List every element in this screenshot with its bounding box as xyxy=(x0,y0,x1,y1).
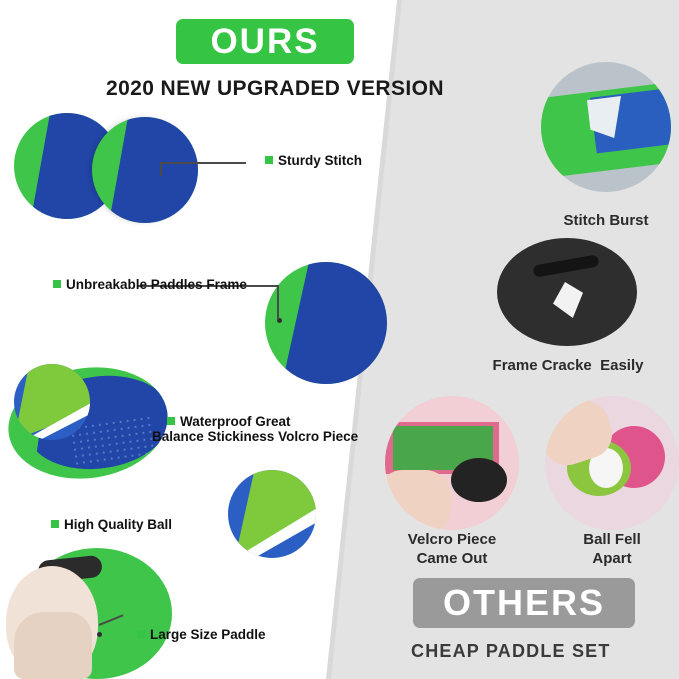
caption-stitch-burst: Stitch Burst xyxy=(528,212,679,231)
annotation-waterproof-velcro: Waterproof Great Balance Stickiness Volc… xyxy=(152,398,358,460)
annotation-waterproof-velcro-label: Waterproof Great Balance Stickiness Volc… xyxy=(152,414,358,445)
paddle-middle xyxy=(265,262,387,384)
others-badge-label: OTHERS xyxy=(413,578,635,628)
bullet-square-icon xyxy=(51,520,59,528)
frame-crack xyxy=(553,282,583,318)
photo-frame-cracke-easily xyxy=(497,238,637,346)
paddle-blue-face xyxy=(92,117,198,223)
annotation-large-size-paddle: Large Size Paddle xyxy=(122,611,266,658)
ours-badge-label: OURS xyxy=(176,19,354,64)
cracked-frame-strap xyxy=(532,254,599,277)
annotation-sturdy-stitch-label: Sturdy Stitch xyxy=(278,153,362,168)
annotation-high-quality-ball: High Quality Ball xyxy=(36,501,172,548)
annotation-unbreakable-frame: Unbreakable Paddles Frame xyxy=(38,261,247,308)
bullet-square-icon xyxy=(167,417,175,425)
ball-on-velcro-paddle xyxy=(14,364,90,440)
velcro-black-piece xyxy=(451,458,507,502)
ours-badge: OURS xyxy=(176,19,354,64)
paddle-top-right xyxy=(92,117,198,223)
photo-velcro-piece-came-out xyxy=(385,396,519,530)
ours-subtitle: 2020 NEW UPGRADED VERSION xyxy=(106,77,444,101)
paddle-blue-face xyxy=(265,262,387,384)
caption-ball-fell-apart: Ball Fell Apart xyxy=(542,531,679,569)
photo-stitch-burst xyxy=(541,62,671,192)
photo-ball-fell-apart xyxy=(545,396,679,530)
others-subtitle: CHEAP PADDLE SET xyxy=(411,641,611,662)
annotation-high-quality-ball-label: High Quality Ball xyxy=(64,517,172,532)
leader-dot-large-size-paddle xyxy=(97,632,102,637)
infographic-page: OURS 2020 NEW UPGRADED VERSION Sturdy St… xyxy=(0,0,679,679)
bullet-square-icon xyxy=(53,280,61,288)
annotation-unbreakable-frame-label: Unbreakable Paddles Frame xyxy=(66,277,247,292)
hand-fingers xyxy=(14,612,92,679)
annotation-large-size-paddle-label: Large Size Paddle xyxy=(150,627,266,642)
caption-velcro-piece-came-out: Velcro Piece Came Out xyxy=(374,531,530,569)
hand-in-velcro-photo xyxy=(385,470,451,530)
leader-line-unbreakable-frame-drop xyxy=(277,285,279,319)
others-badge: OTHERS xyxy=(413,578,635,628)
caption-frame-cracke-easily: Frame Cracke Easily xyxy=(462,357,674,376)
bullet-square-icon xyxy=(137,630,145,638)
leader-line-sturdy-stitch xyxy=(160,162,246,164)
bullet-square-icon xyxy=(265,156,273,164)
ball-high-quality xyxy=(228,470,316,558)
annotation-sturdy-stitch: Sturdy Stitch xyxy=(250,137,362,184)
leader-line-sturdy-stitch-drop xyxy=(160,162,162,176)
